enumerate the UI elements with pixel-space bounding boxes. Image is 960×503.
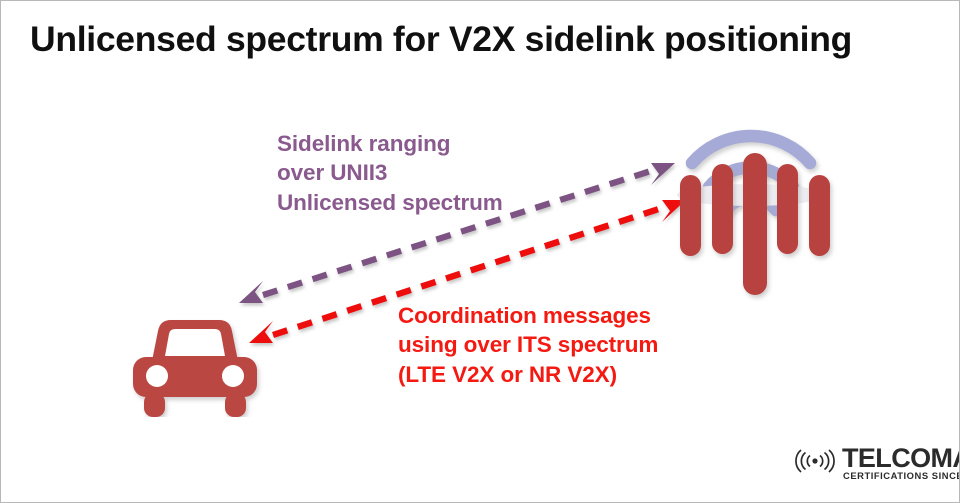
- sidelink-arrowhead-left: [239, 281, 263, 303]
- car-headlight-right: [222, 365, 244, 387]
- car-shape: [133, 320, 257, 417]
- tower-bar-4: [777, 164, 798, 254]
- tower-bar-5: [809, 175, 830, 256]
- tower-bars: [680, 153, 830, 295]
- callout-coordination-messages: Coordination messages using over ITS spe…: [398, 301, 658, 389]
- signal-arc-l3: [796, 450, 801, 472]
- car-wheel-left: [144, 393, 165, 417]
- logo-tagline: CERTIFICATIONS SINCE 2009: [843, 471, 960, 480]
- signal-arc-l2: [801, 453, 805, 470]
- car-headlight-left: [146, 365, 168, 387]
- car-windshield: [165, 329, 225, 356]
- signal-waves-icon: [790, 448, 840, 474]
- signal-arc-r3: [829, 450, 834, 472]
- car-wheel-right: [225, 393, 246, 417]
- signal-arc-l1: [807, 456, 810, 467]
- tower-bar-1: [680, 175, 701, 256]
- tower-bar-center: [743, 153, 767, 295]
- signal-arc-r2: [825, 453, 829, 470]
- telcoma-logo: TELCOMA CERTIFICATIONS SINCE 2009: [790, 445, 942, 489]
- car-front-icon: [125, 313, 265, 417]
- slide-canvas: Unlicensed spectrum for V2X sidelink pos…: [0, 0, 960, 503]
- signal-dot: [812, 458, 817, 463]
- signal-arc-r1: [820, 456, 823, 467]
- cell-tower-icon: [669, 109, 869, 339]
- callout-sidelink-ranging: Sidelink ranging over UNII3 Unlicensed s…: [277, 129, 503, 217]
- logo-wordmark: TELCOMA: [842, 445, 960, 472]
- page-title: Unlicensed spectrum for V2X sidelink pos…: [30, 19, 930, 60]
- tower-bar-2: [712, 164, 733, 254]
